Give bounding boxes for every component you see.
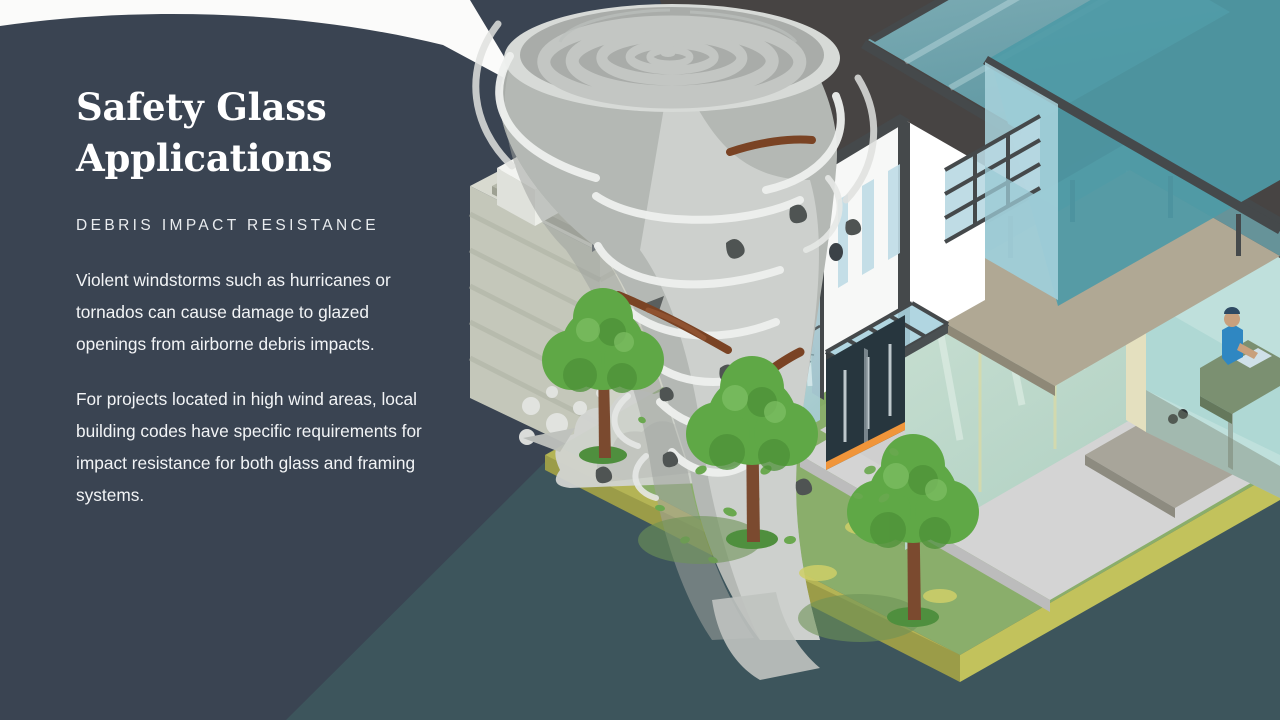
page-subtitle: DEBRIS IMPACT RESISTANCE	[76, 217, 446, 235]
slide-root: Safety Glass Applications DEBRIS IMPACT …	[0, 0, 1280, 720]
tornado-spiral-top	[504, 4, 840, 112]
text-panel: Safety Glass Applications DEBRIS IMPACT …	[76, 82, 446, 511]
page-title: Safety Glass Applications	[76, 82, 446, 184]
page-title-line-2: Applications	[76, 136, 332, 180]
body-paragraph-2: For projects located in high wind areas,…	[76, 383, 434, 511]
body-paragraph-1: Violent windstorms such as hurricanes or…	[76, 264, 434, 360]
page-title-line-1: Safety Glass	[76, 85, 327, 129]
